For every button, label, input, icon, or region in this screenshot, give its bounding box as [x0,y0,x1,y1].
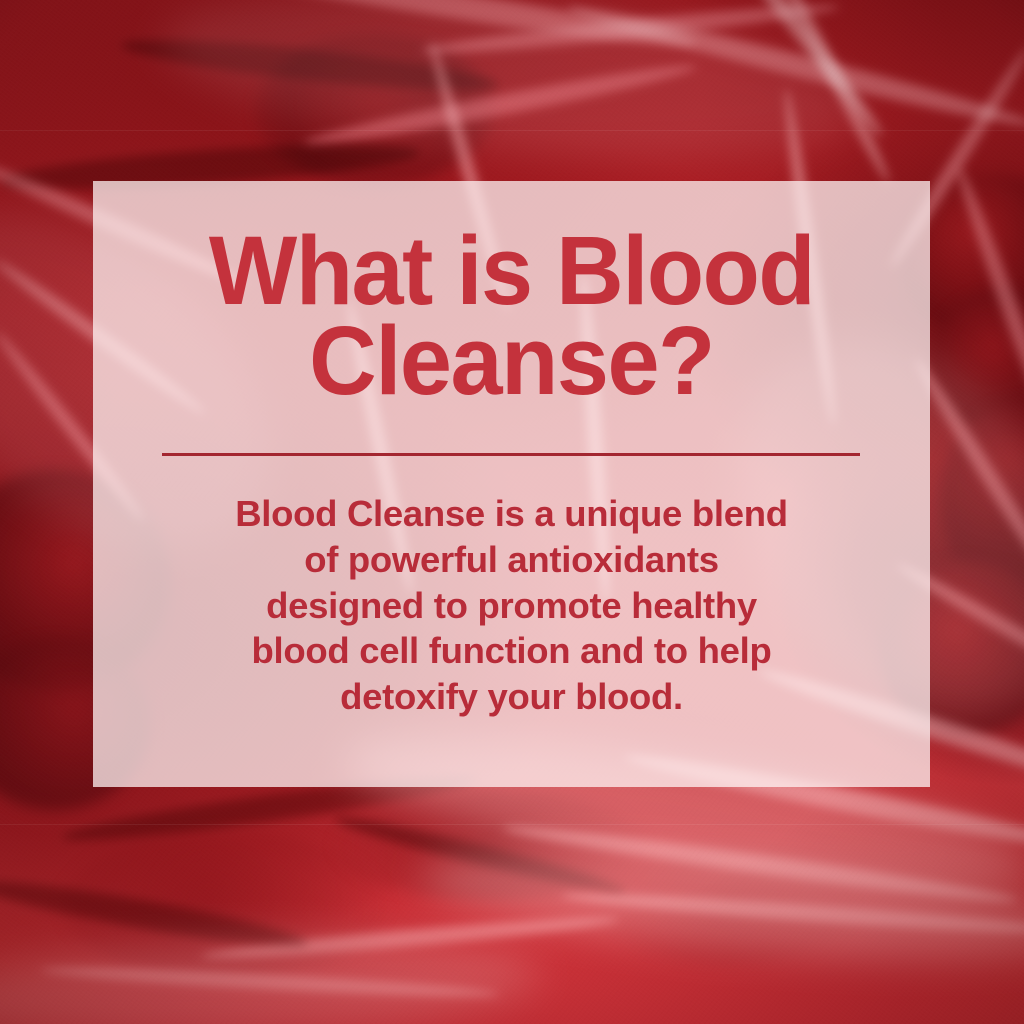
text-overlay-card: What is Blood Cleanse? Blood Cleanse is … [93,181,930,787]
card-content: What is Blood Cleanse? Blood Cleanse is … [93,181,930,787]
body-description: Blood Cleanse is a unique blend of power… [105,491,918,720]
image-canvas: What is Blood Cleanse? Blood Cleanse is … [0,0,1024,1024]
title-divider [162,453,860,456]
page-title: What is Blood Cleanse? [108,226,916,406]
